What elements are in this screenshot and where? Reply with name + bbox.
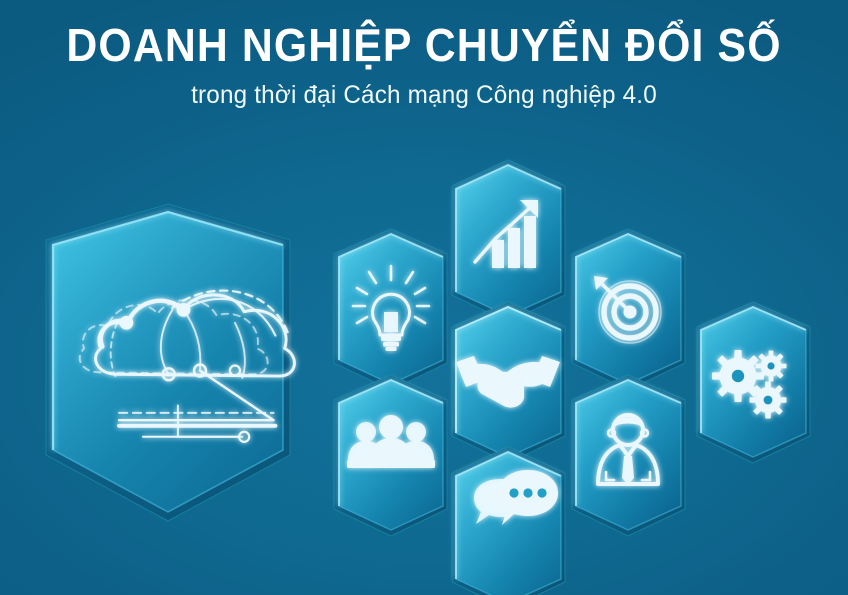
hexagon-team[interactable] [334,375,447,536]
hexagon-gears[interactable] [697,302,810,463]
hexagon-consultant[interactable] [572,375,685,536]
hexagon-handshake[interactable] [452,302,565,463]
hexagon-cloud[interactable] [46,204,294,521]
hexagon-grid [0,0,848,595]
hexagon-idea[interactable] [334,229,447,390]
hexagon-target[interactable] [572,229,685,390]
poster-canvas: DOANH NGHIỆP CHUYỂN ĐỔI SỐ trong thời đạ… [0,0,848,595]
hexagon-growth[interactable] [452,160,565,322]
hexagon-chat[interactable] [452,447,565,595]
